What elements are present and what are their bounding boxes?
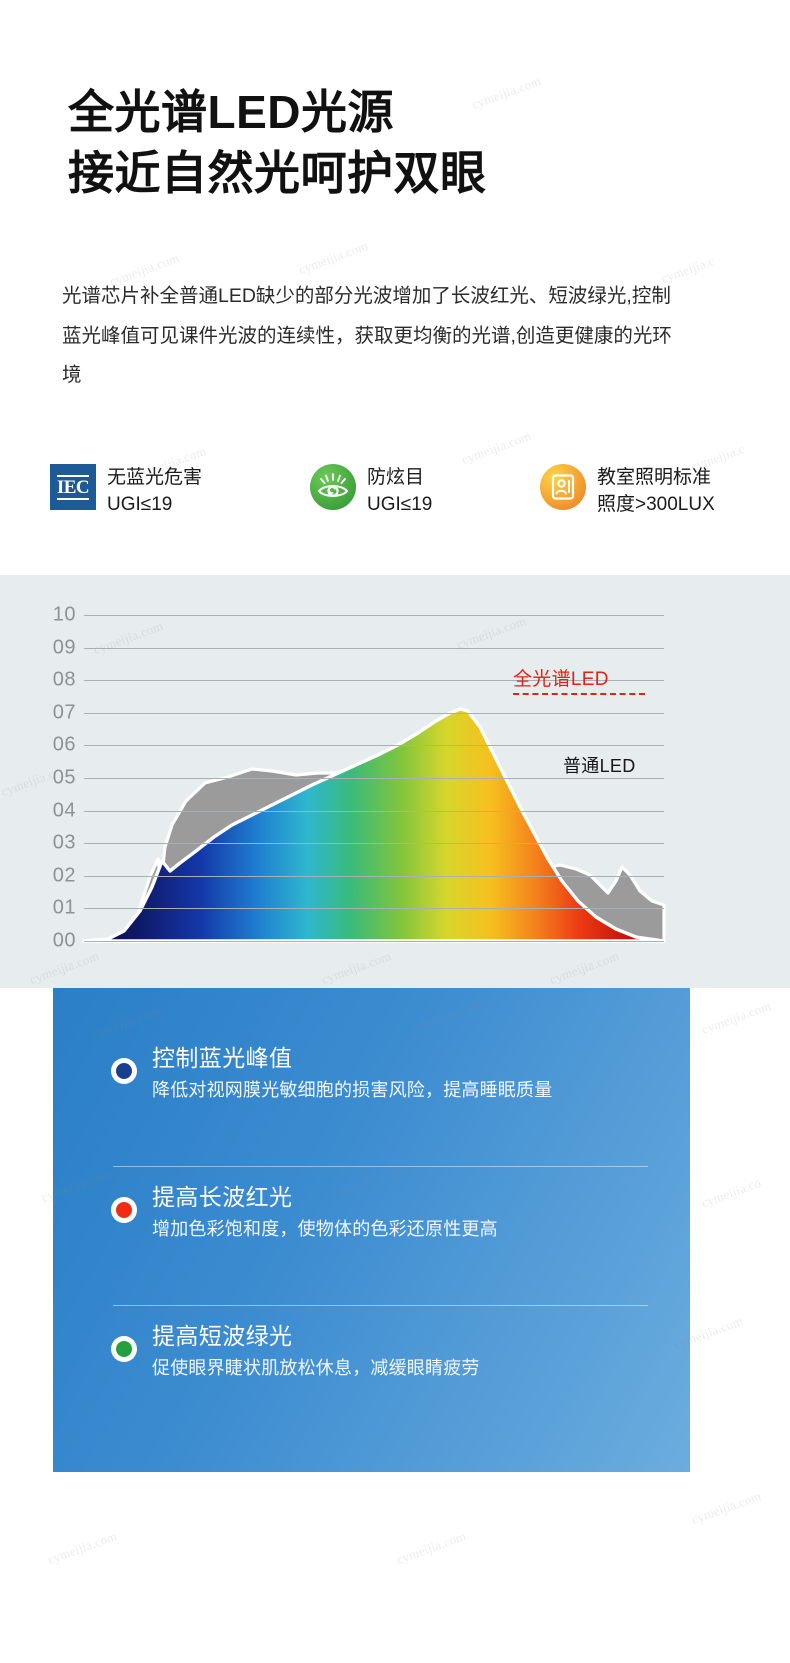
chart-gridline (84, 648, 664, 649)
chart-y-tick-label: 03 (40, 832, 76, 855)
feature-list: 控制蓝光峰值 降低对视网膜光敏细胞的损害风险，提高睡眠质量 提高长波红光 增加色… (53, 988, 690, 1472)
chart-y-tick-label: 09 (40, 636, 76, 659)
chart-y-tick-label: 02 (40, 864, 76, 887)
feature-title: 提高长波红光 (152, 1183, 498, 1213)
chart-y-tick-label: 08 (40, 669, 76, 692)
badge-row: IEC 无蓝光危害 UGI≤19 (50, 464, 750, 530)
badge-line-1: 防炫目 (367, 465, 432, 492)
feature-item-short-wave-green: 提高短波绿光 促使眼界睫状肌放松休息，减缓眼睛疲劳 (53, 1322, 690, 1430)
classroom-lighting-standard-icon (540, 464, 586, 510)
chart-annotation-ordinary-led: 普通LED (563, 752, 636, 778)
chart-gridline (84, 941, 664, 942)
spectrum-chart-panel: 1009080706050403020100 (0, 575, 790, 988)
page-title: 全光谱LED光源 接近自然光呵护双眼 (68, 82, 487, 203)
badge-line-2: UGI≤19 (107, 492, 202, 519)
green-bullet-marker (111, 1336, 137, 1362)
watermark-text: cymeijia.co (699, 1175, 763, 1211)
feature-item-long-wave-red: 提高长波红光 增加色彩饱和度，使物体的色彩还原性更高 (53, 1183, 690, 1291)
feature-text-block: 提高长波红光 增加色彩饱和度，使物体的色彩还原性更高 (152, 1183, 498, 1243)
page-title-line-2: 接近自然光呵护双眼 (68, 143, 487, 204)
badge-line-2: 照度>300LUX (597, 492, 715, 519)
spectrum-chart-svg (0, 575, 790, 988)
blue-bullet-marker (111, 1058, 137, 1084)
spectrum-chart: 1009080706050403020100 (0, 575, 790, 988)
badge-classroom-lighting-standard: 教室照明标准 照度>300LUX (540, 464, 750, 519)
chart-y-tick-label: 04 (40, 799, 76, 822)
badge-anti-glare: 防炫目 UGI≤19 (310, 464, 540, 519)
feature-text-block: 控制蓝光峰值 降低对视网膜光敏细胞的损害风险，提高睡眠质量 (152, 1044, 552, 1104)
chart-gridline (84, 811, 664, 812)
feature-title: 控制蓝光峰值 (152, 1044, 552, 1074)
chart-annotation-full-spectrum: 全光谱LED (513, 664, 609, 691)
iec-certification-icon: IEC (50, 464, 96, 510)
iec-icon-label: IEC (57, 475, 89, 500)
badge-line-1: 无蓝光危害 (107, 465, 202, 492)
chart-gridline (84, 843, 664, 844)
badge-text-block: 防炫目 UGI≤19 (367, 464, 432, 519)
chart-y-tick-label: 00 (40, 930, 76, 953)
chart-y-tick-label: 07 (40, 701, 76, 724)
chart-gridline (84, 615, 664, 616)
watermark-text: cymeijia.com (689, 1488, 763, 1528)
feature-card: 控制蓝光峰值 降低对视网膜光敏细胞的损害风险，提高睡眠质量 提高长波红光 增加色… (53, 988, 690, 1472)
watermark-text: cymeijia.com (699, 998, 773, 1038)
chart-y-tick-label: 06 (40, 734, 76, 757)
chart-annotation-dashed-rule (513, 693, 645, 695)
badge-text-block: 无蓝光危害 UGI≤19 (107, 464, 202, 519)
feature-text-block: 提高短波绿光 促使眼界睫状肌放松休息，减缓眼睛疲劳 (152, 1322, 480, 1382)
chart-gridline (84, 908, 664, 909)
intro-paragraph: 光谱芯片补全普通LED缺少的部分光波增加了长波红光、短波绿光,控制蓝光峰值可见课… (62, 277, 682, 396)
chart-gridline (84, 778, 664, 779)
badge-line-2: UGI≤19 (367, 492, 432, 519)
feature-description: 降低对视网膜光敏细胞的损害风险，提高睡眠质量 (152, 1077, 552, 1104)
hero-section: 全光谱LED光源 接近自然光呵护双眼 光谱芯片补全普通LED缺少的部分光波增加了… (0, 0, 790, 575)
feature-divider (113, 1166, 648, 1167)
red-bullet-marker (111, 1197, 137, 1223)
feature-item-blue-peak: 控制蓝光峰值 降低对视网膜光敏细胞的损害风险，提高睡眠质量 (53, 1044, 690, 1152)
chart-y-tick-label: 10 (40, 604, 76, 627)
feature-description: 增加色彩饱和度，使物体的色彩还原性更高 (152, 1216, 498, 1243)
feature-description: 促使眼界睫状肌放松休息，减缓眼睛疲劳 (152, 1355, 480, 1382)
feature-title: 提高短波绿光 (152, 1322, 480, 1352)
badge-line-1: 教室照明标准 (597, 465, 715, 492)
chart-gridline (84, 713, 664, 714)
chart-gridline (84, 745, 664, 746)
feature-divider (113, 1305, 648, 1306)
chart-y-tick-label: 05 (40, 767, 76, 790)
badge-no-blue-light-hazard: IEC 无蓝光危害 UGI≤19 (50, 464, 310, 519)
chart-y-tick-label: 01 (40, 897, 76, 920)
badge-text-block: 教室照明标准 照度>300LUX (597, 464, 715, 519)
chart-gridline (84, 876, 664, 877)
page-root: 全光谱LED光源 接近自然光呵护双眼 光谱芯片补全普通LED缺少的部分光波增加了… (0, 0, 790, 1663)
watermark-text: cymeijia.com (45, 1528, 119, 1568)
anti-glare-eye-icon (310, 464, 356, 510)
watermark-text: cymeijia.com (394, 1528, 468, 1568)
page-title-line-1: 全光谱LED光源 (68, 82, 487, 143)
